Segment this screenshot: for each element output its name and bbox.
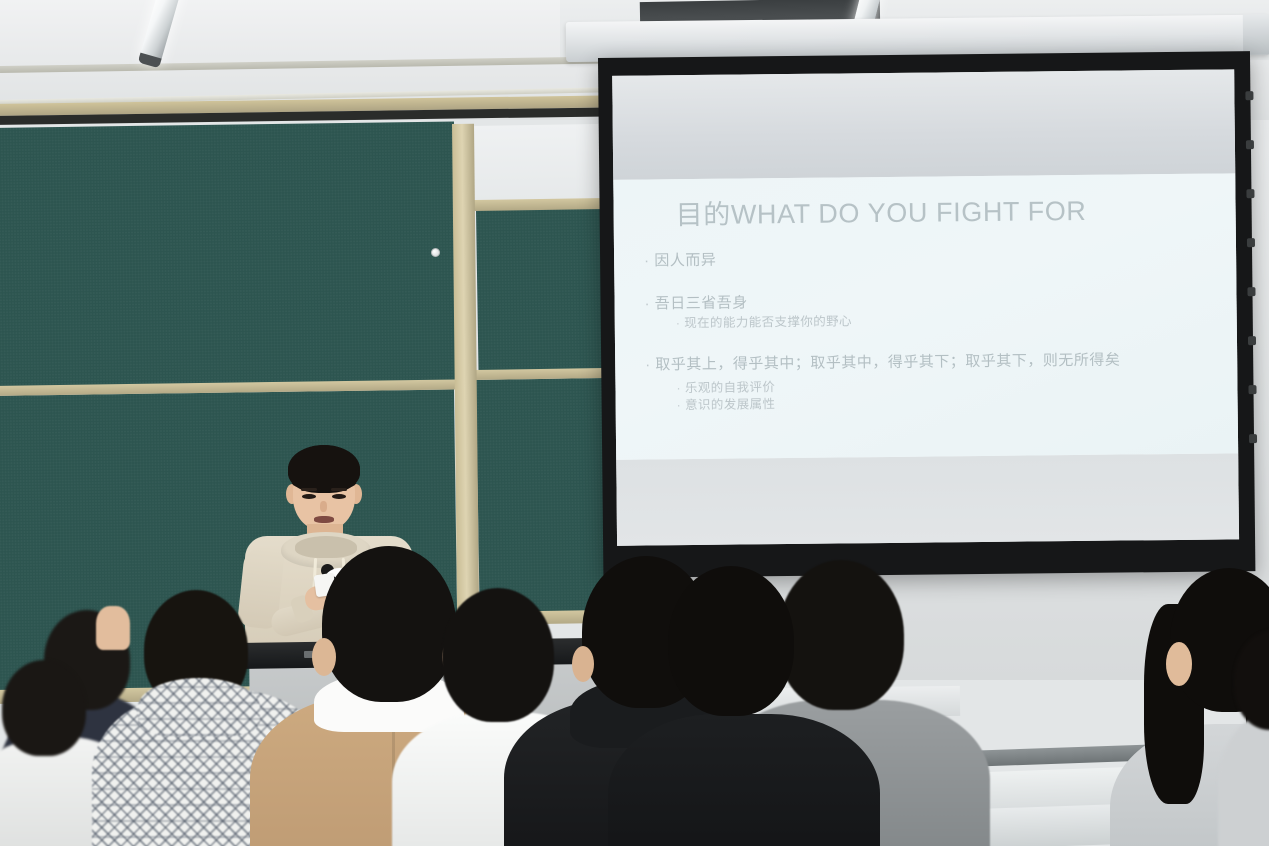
slide-bullet-list: 因人而异 吾日三省吾身 现在的能力能否支撑你的野心 取乎其上，得乎其中；取乎其中… bbox=[644, 245, 1226, 415]
slide-title: 目的WHAT DO YOU FIGHT FOR bbox=[675, 189, 1086, 232]
audience-member bbox=[1228, 630, 1269, 846]
presentation-slide: 目的WHAT DO YOU FIGHT FOR 因人而异 吾日三省吾身 现在的能… bbox=[613, 173, 1238, 459]
presenter-eyebrow-left bbox=[301, 488, 317, 491]
student-ear bbox=[312, 638, 336, 676]
classroom-scene: 目的WHAT DO YOU FIGHT FOR 因人而异 吾日三省吾身 现在的能… bbox=[0, 0, 1269, 846]
presenter-eye-left bbox=[302, 494, 316, 499]
audience-member bbox=[624, 566, 844, 846]
presenter-eyebrow-right bbox=[331, 488, 347, 491]
presenter-hair-front bbox=[288, 445, 360, 493]
blackboard-knob bbox=[431, 248, 440, 257]
student-ear bbox=[1166, 642, 1192, 686]
student-head bbox=[1234, 630, 1269, 730]
student-hood bbox=[138, 678, 260, 736]
student-garment bbox=[608, 714, 880, 846]
projector-screen: 目的WHAT DO YOU FIGHT FOR 因人而异 吾日三省吾身 现在的能… bbox=[598, 51, 1255, 578]
blackboard-panel bbox=[0, 121, 458, 387]
student-ear bbox=[572, 646, 594, 682]
presenter-eye-right bbox=[332, 494, 346, 499]
student-head bbox=[668, 566, 794, 716]
student-head bbox=[2, 660, 86, 756]
housing-end-cap bbox=[1243, 15, 1269, 55]
student-hand bbox=[96, 606, 130, 650]
presenter-nose bbox=[320, 501, 327, 512]
screen-surface: 目的WHAT DO YOU FIGHT FOR 因人而异 吾日三省吾身 现在的能… bbox=[612, 69, 1239, 545]
audience-member-arm bbox=[82, 602, 142, 692]
screen-unprojected-top bbox=[612, 69, 1235, 180]
presenter-mouth bbox=[314, 516, 334, 523]
screen-unprojected-bottom bbox=[616, 453, 1239, 546]
